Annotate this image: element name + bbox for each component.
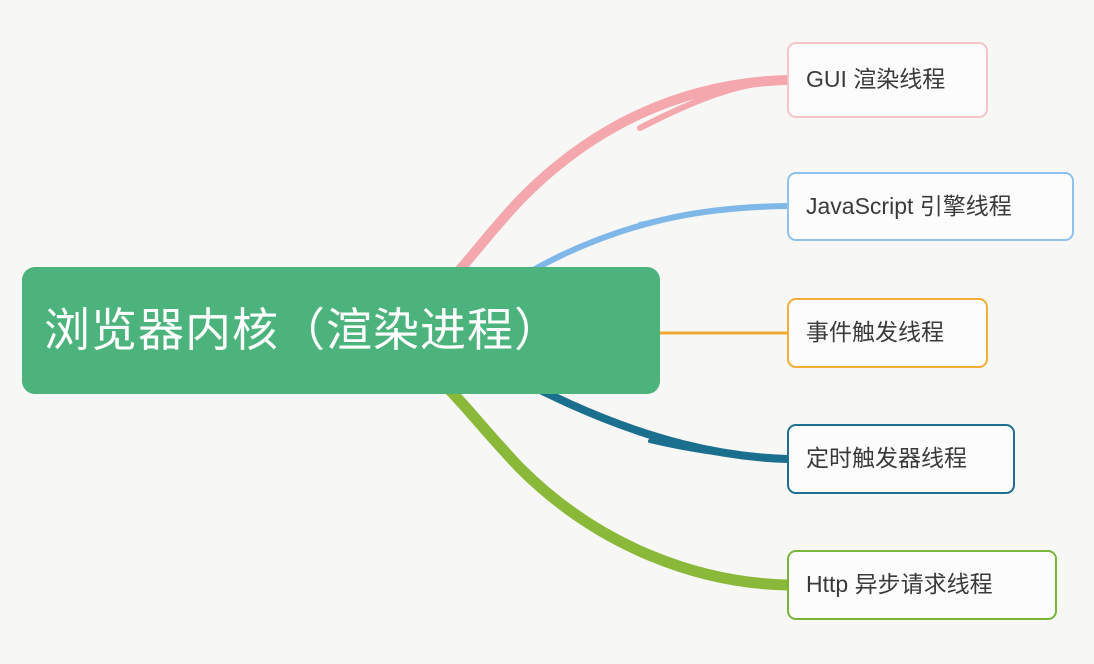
branch-node-http-label: Http 异步请求线程	[806, 571, 993, 599]
branch-node-event[interactable]: 事件触发线程	[787, 298, 988, 368]
branch-node-timer[interactable]: 定时触发器线程	[787, 424, 1015, 494]
branch-node-http[interactable]: Http 异步请求线程	[787, 550, 1057, 620]
branch-node-gui-label: GUI 渲染线程	[806, 66, 945, 94]
branch-node-timer-label: 定时触发器线程	[806, 445, 967, 473]
root-node-label: 浏览器内核（渲染进程）	[44, 305, 561, 356]
branch-node-js[interactable]: JavaScript 引擎线程	[787, 172, 1074, 241]
root-node[interactable]: 浏览器内核（渲染进程）	[22, 267, 660, 394]
branch-node-js-label: JavaScript 引擎线程	[806, 193, 1012, 221]
branch-node-event-label: 事件触发线程	[806, 319, 944, 347]
mindmap-canvas: 浏览器内核（渲染进程） GUI 渲染线程 JavaScript 引擎线程 事件触…	[0, 0, 1094, 664]
branch-node-gui[interactable]: GUI 渲染线程	[787, 42, 988, 118]
